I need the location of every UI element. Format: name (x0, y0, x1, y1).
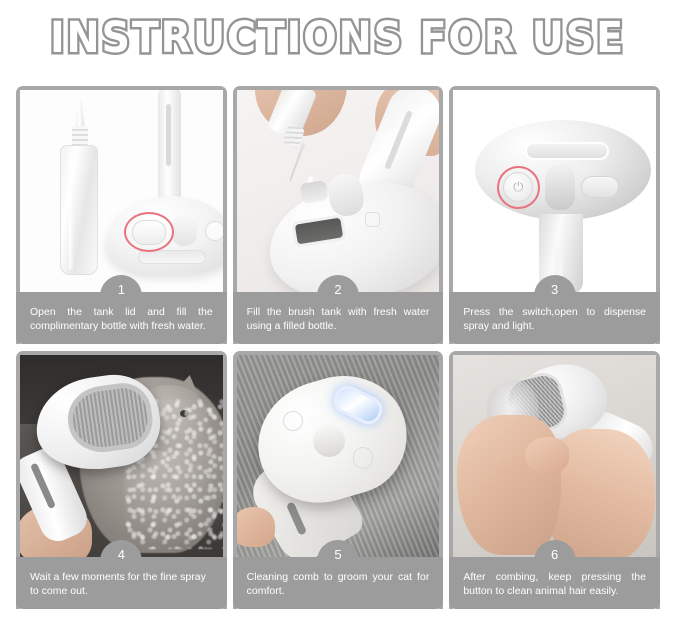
step-caption-text-1: Open the tank lid and fill the complimen… (30, 306, 213, 334)
step-caption-text-3: Press the switch,open to dispense spray … (463, 306, 646, 334)
step-caption-2: 2 Fill the brush tank with fresh water u… (233, 292, 444, 344)
step-card-1: 1 Open the tank lid and fill the complim… (16, 86, 227, 344)
step-caption-1: 1 Open the tank lid and fill the complim… (16, 292, 227, 344)
step-caption-text-6: After combing, keep pressing the button … (463, 571, 646, 599)
bottle-tip-icon (286, 142, 307, 182)
step-caption-4: 4 Wait a few moments for the fine spray … (16, 557, 227, 609)
page-title-container: INSTRUCTIONS FOR USE (0, 0, 675, 76)
step-caption-6: 6 After combing, keep pressing the butto… (449, 557, 660, 609)
step-photo-4 (20, 355, 223, 557)
instructions-page: INSTRUCTIONS FOR USE 1 (0, 0, 675, 639)
photo-illustration-cleaning-hair (453, 355, 656, 557)
step-card-4: 4 Wait a few moments for the fine spray … (16, 351, 227, 609)
step-photo-2 (237, 90, 440, 292)
step-card-2: 2 Fill the brush tank with fresh water u… (233, 86, 444, 344)
hand-left-icon (457, 415, 561, 555)
step-photo-3 (453, 90, 656, 292)
step-photo-5 (237, 355, 440, 557)
device-knob-icon (313, 425, 345, 457)
step-caption-text-2: Fill the brush tank with fresh water usi… (247, 306, 430, 334)
release-button-icon (353, 447, 373, 469)
device-window-icon (138, 250, 206, 264)
step-card-3: 3 Press the switch,open to dispense spra… (449, 86, 660, 344)
power-button-icon (283, 411, 303, 431)
thumb-icon (525, 437, 569, 473)
device-knob-icon (172, 214, 197, 246)
power-button-icon (365, 212, 380, 227)
photo-illustration-filling-tank (237, 90, 440, 292)
step-photo-1 (20, 90, 223, 292)
photo-illustration-power-switch (453, 90, 656, 292)
photo-illustration-brush-on-fur (237, 355, 440, 557)
photo-illustration-bottle-and-device (20, 90, 223, 292)
release-button-icon (581, 176, 619, 198)
bottle-body-icon (60, 145, 98, 275)
step-caption-3: 3 Press the switch,open to dispense spra… (449, 292, 660, 344)
step-caption-text-4: Wait a few moments for the fine spray to… (30, 571, 213, 599)
step-caption-text-5: Cleaning comb to groom your cat for comf… (247, 571, 430, 599)
photo-illustration-spraying-cat (20, 355, 223, 557)
step-caption-5: 5 Cleaning comb to groom your cat for co… (233, 557, 444, 609)
power-button-icon (205, 221, 223, 241)
device-stem-icon (158, 90, 181, 206)
step-card-5: 5 Cleaning comb to groom your cat for co… (233, 351, 444, 609)
device-knob-icon (545, 164, 575, 210)
step-card-6: 6 After combing, keep pressing the butto… (449, 351, 660, 609)
tank-port-icon (299, 180, 328, 204)
steps-grid: 1 Open the tank lid and fill the complim… (16, 86, 660, 609)
page-title: INSTRUCTIONS FOR USE (50, 17, 625, 60)
hand-icon (237, 507, 275, 547)
highlight-ring-icon (124, 212, 174, 252)
step-photo-6 (453, 355, 656, 557)
device-window-icon (525, 142, 609, 160)
